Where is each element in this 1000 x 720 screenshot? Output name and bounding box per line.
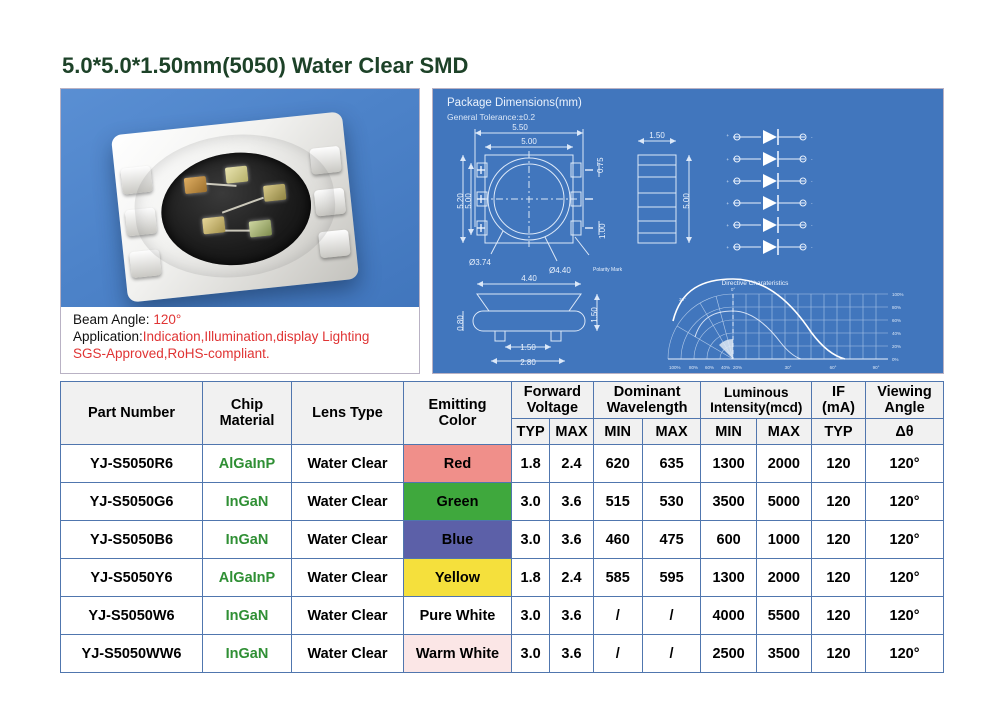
col-forward-voltage-line1: Forward	[512, 384, 593, 400]
cell-part-number: YJ-S5050Y6	[61, 559, 203, 597]
subcol-iv-min: MIN	[701, 419, 756, 445]
col-chip-material-line1: Chip	[203, 397, 291, 413]
cell-iv-max: 2000	[756, 559, 811, 597]
svg-text:80%: 80%	[689, 365, 698, 370]
svg-text:1.50: 1.50	[520, 343, 536, 352]
svg-text:0.75: 0.75	[596, 157, 605, 173]
col-if: IF (mA)	[812, 382, 866, 419]
cell-wl-max: /	[642, 635, 701, 673]
svg-text:100%: 100%	[669, 365, 681, 370]
table-head: Part Number Chip Material Lens Type Emit…	[61, 382, 944, 445]
cell-iv-max: 2000	[756, 445, 811, 483]
page-title: 5.0*5.0*1.50mm(5050) Water Clear SMD	[62, 53, 468, 79]
photo-caption: Beam Angle: 120° Application:Indication,…	[61, 307, 419, 373]
cell-chip-material: AlGaInP	[203, 559, 292, 597]
cell-viewing-angle: 120°	[866, 521, 944, 559]
col-emitting-color: Emitting Color	[404, 382, 512, 445]
application-line: Application:Indication,Illumination,disp…	[73, 328, 419, 345]
cell-iv-max: 1000	[756, 521, 811, 559]
table-row: YJ-S5050B6InGaNWater ClearBlue3.03.64604…	[61, 521, 944, 559]
led-die	[249, 219, 273, 237]
svg-text:1.00: 1.00	[598, 223, 607, 239]
cell-wl-max: /	[642, 597, 701, 635]
cell-part-number: YJ-S5050W6	[61, 597, 203, 635]
cell-part-number: YJ-S5050B6	[61, 521, 203, 559]
cell-iv-max: 5000	[756, 483, 811, 521]
led-die	[202, 216, 226, 234]
cell-wl-min: 620	[593, 445, 642, 483]
cell-viewing-angle: 120°	[866, 445, 944, 483]
svg-text:90°: 90°	[873, 365, 880, 370]
cell-if-typ: 120	[812, 521, 866, 559]
svg-text:+: +	[726, 223, 729, 228]
cell-part-number: YJ-S5050WW6	[61, 635, 203, 673]
svg-text:Ø3.74: Ø3.74	[469, 258, 491, 267]
compliance-line: SGS-Approved,RoHS-compliant.	[73, 345, 419, 362]
col-luminous-intensity: Luminous Intensity(mcd)	[701, 382, 812, 419]
col-chip-material-line2: Material	[203, 413, 291, 429]
svg-text:0%: 0%	[892, 357, 899, 362]
cell-wl-min: /	[593, 635, 642, 673]
panels-row: Beam Angle: 120° Application:Indication,…	[60, 88, 944, 374]
svg-text:-: -	[811, 135, 813, 140]
beam-angle-value: 120°	[153, 312, 181, 327]
subcol-vf-max: MAX	[550, 419, 594, 445]
col-if-line1: IF	[812, 384, 865, 400]
cell-vf-max: 3.6	[550, 635, 594, 673]
svg-text:5.00: 5.00	[682, 193, 691, 209]
svg-text:80%: 80%	[892, 305, 901, 310]
cell-if-typ: 120	[812, 559, 866, 597]
polar-chart-title: Directive Charateristics	[722, 280, 790, 287]
cell-vf-typ: 3.0	[512, 521, 550, 559]
technical-drawing: Package Dimensions(mm) General Tolerance…	[433, 89, 943, 373]
led-die	[225, 166, 249, 184]
subcol-vf-typ: TYP	[512, 419, 550, 445]
svg-text:1.50: 1.50	[649, 131, 665, 140]
cell-chip-material: InGaN	[203, 521, 292, 559]
cell-vf-max: 3.6	[550, 483, 594, 521]
table-row: YJ-S5050WW6InGaNWater ClearWarm White3.0…	[61, 635, 944, 673]
table-body: YJ-S5050R6AlGaInPWater ClearRed1.82.4620…	[61, 445, 944, 673]
cell-iv-min: 3500	[701, 483, 756, 521]
package-dimensions-panel: Package Dimensions(mm) General Tolerance…	[432, 88, 944, 374]
col-emitting-color-line2: Color	[404, 413, 511, 429]
col-luminous-intensity-line2: Intensity(mcd)	[701, 400, 811, 415]
cell-viewing-angle: 120°	[866, 597, 944, 635]
cell-iv-min: 600	[701, 521, 756, 559]
col-if-line2: (mA)	[812, 400, 865, 416]
col-viewing-angle-line2: Angle	[866, 400, 943, 416]
cell-wl-max: 635	[642, 445, 701, 483]
svg-text:20%: 20%	[733, 365, 742, 370]
led-die	[184, 176, 208, 194]
cell-iv-min: 2500	[701, 635, 756, 673]
svg-text:60°: 60°	[830, 365, 837, 370]
beam-angle-label: Beam Angle:	[73, 312, 153, 327]
cell-vf-max: 3.6	[550, 521, 594, 559]
subcol-viewing-angle: Δθ	[866, 419, 944, 445]
cell-vf-typ: 1.8	[512, 445, 550, 483]
svg-text:40%: 40%	[721, 365, 730, 370]
col-dominant-wavelength-line1: Dominant	[594, 384, 701, 400]
cell-if-typ: 120	[812, 445, 866, 483]
svg-text:-: -	[811, 223, 813, 228]
col-viewing-angle-line1: Viewing	[866, 384, 943, 400]
drawing-svg: 5.50 5.00 5.20 5.00 0.75 1.00 Ø3.74 Ø4.4…	[433, 89, 943, 373]
svg-text:+: +	[726, 157, 729, 162]
cell-chip-material: InGaN	[203, 483, 292, 521]
cell-emitting-color: Pure White	[404, 597, 512, 635]
cell-emitting-color: Red	[404, 445, 512, 483]
svg-text:+: +	[726, 201, 729, 206]
cell-vf-max: 2.4	[550, 559, 594, 597]
cell-vf-typ: 3.0	[512, 483, 550, 521]
cell-chip-material: AlGaInP	[203, 445, 292, 483]
table-row: YJ-S5050W6InGaNWater ClearPure White3.03…	[61, 597, 944, 635]
application-value: Indication,Illumination,display Lighting	[143, 329, 370, 344]
col-lens-type: Lens Type	[292, 382, 404, 445]
cell-if-typ: 120	[812, 635, 866, 673]
svg-text:2.80: 2.80	[520, 358, 536, 367]
cell-part-number: YJ-S5050R6	[61, 445, 203, 483]
table-row: YJ-S5050G6InGaNWater ClearGreen3.03.6515…	[61, 483, 944, 521]
table-row: YJ-S5050R6AlGaInPWater ClearRed1.82.4620…	[61, 445, 944, 483]
col-dominant-wavelength: Dominant Wavelength	[593, 382, 701, 419]
cell-chip-material: InGaN	[203, 597, 292, 635]
col-luminous-intensity-line1: Luminous	[701, 385, 811, 400]
svg-text:+: +	[726, 179, 729, 184]
cell-chip-material: InGaN	[203, 635, 292, 673]
col-forward-voltage: Forward Voltage	[512, 382, 594, 419]
svg-text:4.40: 4.40	[521, 274, 537, 283]
bond-wire	[222, 197, 264, 214]
cell-part-number: YJ-S5050G6	[61, 483, 203, 521]
svg-text:60%: 60%	[892, 318, 901, 323]
cell-iv-min: 4000	[701, 597, 756, 635]
subcol-wl-max: MAX	[642, 419, 701, 445]
led-photo	[61, 89, 419, 307]
cell-vf-typ: 3.0	[512, 635, 550, 673]
application-label: Application:	[73, 329, 143, 344]
cell-viewing-angle: 120°	[866, 559, 944, 597]
cell-wl-min: /	[593, 597, 642, 635]
svg-text:-: -	[811, 245, 813, 250]
cell-viewing-angle: 120°	[866, 483, 944, 521]
svg-text:+: +	[726, 133, 729, 138]
beam-angle-line: Beam Angle: 120°	[73, 311, 419, 328]
col-dominant-wavelength-line2: Wavelength	[594, 400, 701, 416]
cell-lens-type: Water Clear	[292, 483, 404, 521]
svg-text:5.00: 5.00	[464, 193, 473, 209]
col-viewing-angle: Viewing Angle	[866, 382, 944, 419]
svg-text:+: +	[726, 245, 729, 250]
col-part-number: Part Number	[61, 382, 203, 445]
col-chip-material: Chip Material	[203, 382, 292, 445]
cell-lens-type: Water Clear	[292, 559, 404, 597]
cell-emitting-color: Green	[404, 483, 512, 521]
svg-text:Ø4.40: Ø4.40	[549, 266, 571, 275]
cell-lens-type: Water Clear	[292, 445, 404, 483]
svg-text:-: -	[811, 201, 813, 206]
table-row: YJ-S5050Y6AlGaInPWater ClearYellow1.82.4…	[61, 559, 944, 597]
subcol-if-typ: TYP	[812, 419, 866, 445]
cell-vf-max: 3.6	[550, 597, 594, 635]
cell-if-typ: 120	[812, 483, 866, 521]
svg-text:Polarity Mark: Polarity Mark	[593, 267, 623, 273]
svg-text:30°: 30°	[679, 297, 686, 302]
svg-text:1.50: 1.50	[590, 307, 599, 323]
svg-text:60%: 60%	[705, 365, 714, 370]
cell-wl-max: 595	[642, 559, 701, 597]
cell-iv-max: 3500	[756, 635, 811, 673]
led-die	[263, 184, 287, 202]
table-header-row-1: Part Number Chip Material Lens Type Emit…	[61, 382, 944, 419]
svg-text:-: -	[811, 157, 813, 162]
cell-vf-typ: 1.8	[512, 559, 550, 597]
subcol-iv-max: MAX	[756, 419, 811, 445]
cell-vf-typ: 3.0	[512, 597, 550, 635]
cell-emitting-color: Blue	[404, 521, 512, 559]
cell-wl-max: 475	[642, 521, 701, 559]
specification-table: Part Number Chip Material Lens Type Emit…	[60, 381, 944, 673]
svg-text:40%: 40%	[892, 331, 901, 336]
svg-text:100%: 100%	[892, 292, 904, 297]
cell-lens-type: Water Clear	[292, 521, 404, 559]
cell-emitting-color: Warm White	[404, 635, 512, 673]
product-photo-panel: Beam Angle: 120° Application:Indication,…	[60, 88, 420, 374]
cell-wl-min: 515	[593, 483, 642, 521]
col-emitting-color-line1: Emitting	[404, 397, 511, 413]
cell-lens-type: Water Clear	[292, 597, 404, 635]
subcol-wl-min: MIN	[593, 419, 642, 445]
svg-text:5.00: 5.00	[521, 137, 537, 146]
cell-if-typ: 120	[812, 597, 866, 635]
svg-text:30°: 30°	[785, 365, 792, 370]
svg-text:0.80: 0.80	[456, 315, 465, 331]
cell-vf-max: 2.4	[550, 445, 594, 483]
svg-text:-: -	[811, 179, 813, 184]
cell-wl-min: 585	[593, 559, 642, 597]
svg-text:0°: 0°	[731, 287, 736, 292]
cell-wl-max: 530	[642, 483, 701, 521]
cell-emitting-color: Yellow	[404, 559, 512, 597]
svg-text:20%: 20%	[892, 344, 901, 349]
led-package-image	[111, 111, 359, 302]
svg-text:5.50: 5.50	[512, 123, 528, 132]
cell-wl-min: 460	[593, 521, 642, 559]
cell-viewing-angle: 120°	[866, 635, 944, 673]
datasheet-page: 5.0*5.0*1.50mm(5050) Water Clear SMD	[0, 0, 1000, 720]
cell-iv-min: 1300	[701, 559, 756, 597]
cell-iv-max: 5500	[756, 597, 811, 635]
col-forward-voltage-line2: Voltage	[512, 400, 593, 416]
cell-lens-type: Water Clear	[292, 635, 404, 673]
cell-iv-min: 1300	[701, 445, 756, 483]
